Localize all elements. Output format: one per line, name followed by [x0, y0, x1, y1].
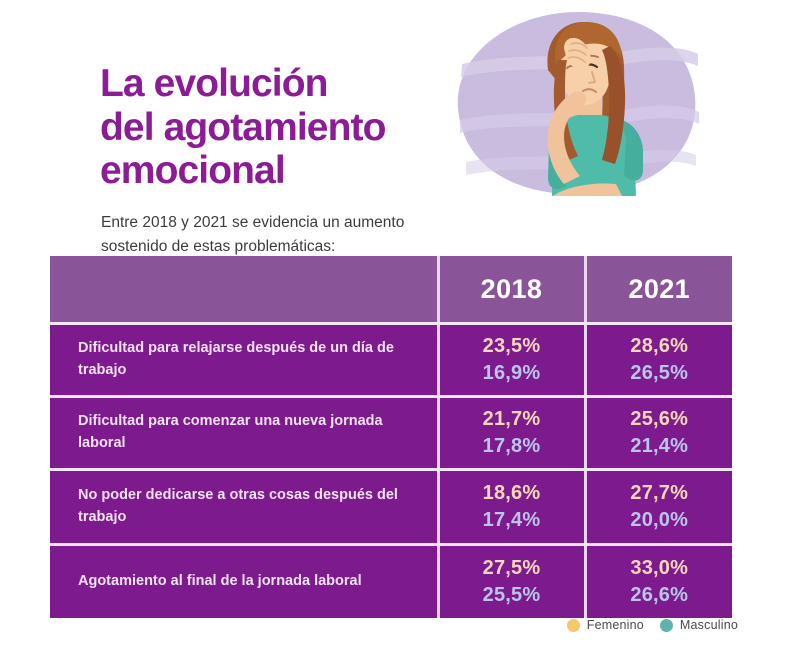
cell-2021: 27,7% 20,0%	[585, 470, 732, 545]
cell-2018: 18,6% 17,4%	[438, 470, 585, 545]
value-masculino: 16,9%	[440, 360, 584, 387]
row-label: No poder dedicarse a otras cosas después…	[50, 470, 438, 545]
value-femenino: 33,0%	[587, 555, 733, 582]
legend-label-femenino: Femenino	[587, 618, 644, 632]
table-row: No poder dedicarse a otras cosas después…	[50, 470, 732, 545]
tired-woman-illustration	[452, 8, 704, 196]
legend-item-femenino: Femenino	[567, 618, 644, 632]
legend-label-masculino: Masculino	[680, 618, 738, 632]
value-femenino: 25,6%	[587, 406, 733, 433]
column-header-2018: 2018	[438, 256, 585, 324]
legend-item-masculino: Masculino	[660, 618, 738, 632]
page-title: La evolución del agotamiento emocional	[100, 62, 480, 193]
value-femenino: 27,5%	[440, 555, 584, 582]
legend-dot-masculino-icon	[660, 619, 673, 632]
value-femenino: 27,7%	[587, 480, 733, 507]
table-header-row: 2018 2021	[50, 256, 732, 324]
cell-2021: 33,0% 26,6%	[585, 545, 732, 619]
column-header-2021: 2021	[585, 256, 732, 324]
row-label: Dificultad para comenzar una nueva jorna…	[50, 397, 438, 470]
column-header-label	[50, 256, 438, 324]
value-masculino: 17,4%	[440, 507, 584, 534]
value-femenino: 23,5%	[440, 333, 584, 360]
table-header: 2018 2021	[50, 256, 732, 324]
value-femenino: 18,6%	[440, 480, 584, 507]
cell-2021: 25,6% 21,4%	[585, 397, 732, 470]
value-femenino: 28,6%	[587, 333, 733, 360]
statistics-table: 2018 2021 Dificultad para relajarse desp…	[50, 256, 732, 618]
value-masculino: 17,8%	[440, 433, 584, 460]
value-femenino: 21,7%	[440, 406, 584, 433]
chart-legend: Femenino Masculino	[567, 618, 738, 632]
value-masculino: 21,4%	[587, 433, 733, 460]
hero-section: La evolución del agotamiento emocional E…	[0, 0, 800, 250]
table-row: Agotamiento al final de la jornada labor…	[50, 545, 732, 619]
table-body: Dificultad para relajarse después de un …	[50, 324, 732, 619]
cell-2018: 23,5% 16,9%	[438, 324, 585, 397]
table-row: Dificultad para comenzar una nueva jorna…	[50, 397, 732, 470]
burnout-data-table: 2018 2021 Dificultad para relajarse desp…	[50, 256, 732, 618]
cell-2018: 27,5% 25,5%	[438, 545, 585, 619]
page-subtitle: Entre 2018 y 2021 se evidencia un aument…	[101, 211, 501, 260]
cell-2021: 28,6% 26,5%	[585, 324, 732, 397]
legend-dot-femenino-icon	[567, 619, 580, 632]
value-masculino: 26,6%	[587, 582, 733, 609]
value-masculino: 26,5%	[587, 360, 733, 387]
row-label: Agotamiento al final de la jornada labor…	[50, 545, 438, 619]
value-masculino: 25,5%	[440, 582, 584, 609]
table-row: Dificultad para relajarse después de un …	[50, 324, 732, 397]
cell-2018: 21,7% 17,8%	[438, 397, 585, 470]
row-label: Dificultad para relajarse después de un …	[50, 324, 438, 397]
value-masculino: 20,0%	[587, 507, 733, 534]
